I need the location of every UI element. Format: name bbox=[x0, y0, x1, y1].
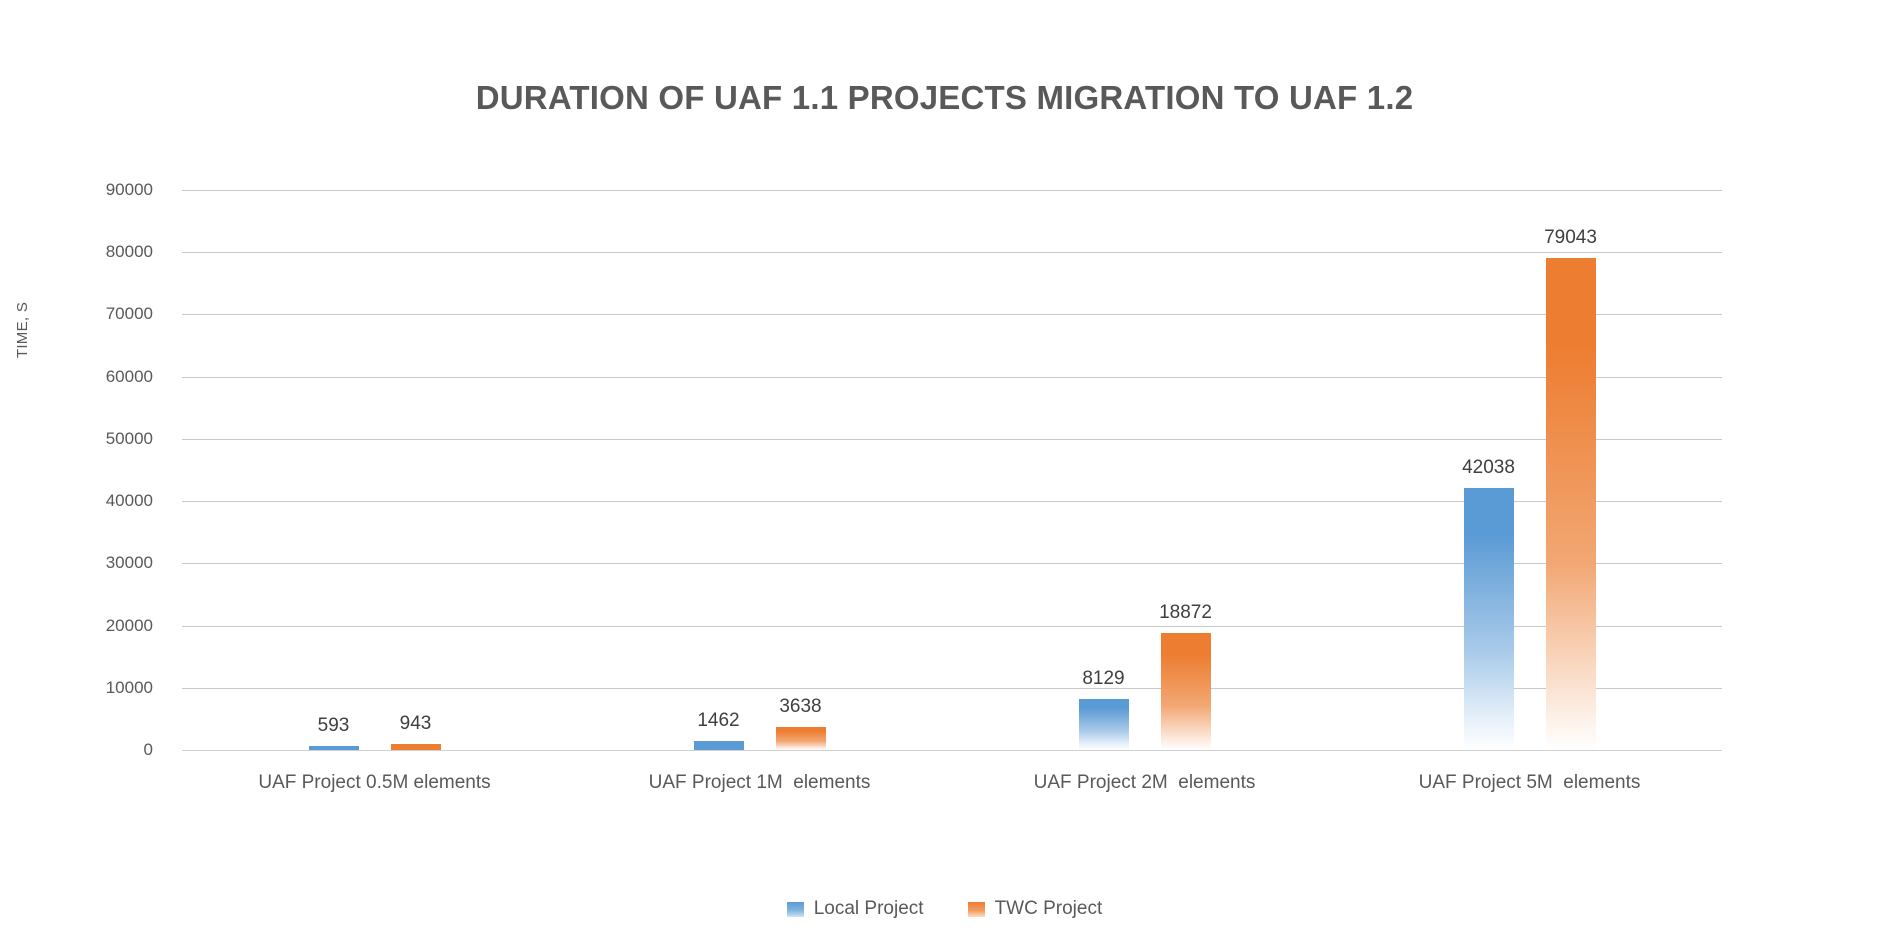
y-axis-tick-label: 50000 bbox=[47, 429, 167, 449]
bar-twc-project[interactable]: 18872 bbox=[1161, 633, 1211, 750]
bar-slot: 3638 bbox=[776, 190, 826, 750]
chart-canvas: DURATION OF UAF 1.1 PROJECTS MIGRATION T… bbox=[0, 0, 1889, 938]
y-axis-tick-label: 80000 bbox=[47, 242, 167, 262]
bar-local-project[interactable]: 593 bbox=[309, 746, 359, 750]
bar-value-label: 18872 bbox=[1159, 602, 1212, 624]
bar-group-bars: 593943 bbox=[182, 190, 567, 750]
bar-local-project[interactable]: 8129 bbox=[1079, 699, 1129, 750]
y-axis-tick-label: 70000 bbox=[47, 304, 167, 324]
bar-local-project[interactable]: 42038 bbox=[1464, 488, 1514, 750]
bar-slot: 8129 bbox=[1079, 190, 1129, 750]
gridline bbox=[182, 750, 1722, 751]
y-axis-tick-label: 20000 bbox=[47, 616, 167, 636]
bar-value-label: 8129 bbox=[1082, 668, 1124, 690]
x-axis-category-label: UAF Project 1M elements bbox=[567, 772, 952, 794]
bar-group: 4203879043 bbox=[1337, 190, 1722, 750]
x-axis-category-label: UAF Project 2M elements bbox=[952, 772, 1337, 794]
y-axis-tick-label: 90000 bbox=[47, 180, 167, 200]
bar-twc-project[interactable]: 3638 bbox=[776, 727, 826, 750]
bar-slot: 943 bbox=[391, 190, 441, 750]
bar-twc-project[interactable]: 943 bbox=[391, 744, 441, 750]
bar-group: 812918872 bbox=[952, 190, 1337, 750]
y-axis-tick-label: 30000 bbox=[47, 553, 167, 573]
bar-group-bars: 4203879043 bbox=[1337, 190, 1722, 750]
bar-slot: 79043 bbox=[1546, 190, 1596, 750]
y-axis-tick-label: 10000 bbox=[47, 678, 167, 698]
legend-item-twc-project[interactable]: TWC Project bbox=[968, 898, 1103, 920]
legend-label: Local Project bbox=[814, 898, 924, 920]
y-axis-tick-label: 60000 bbox=[47, 367, 167, 387]
bar-group: 593943 bbox=[182, 190, 567, 750]
y-axis-tick-label: 0 bbox=[47, 740, 167, 760]
bar-slot: 42038 bbox=[1464, 190, 1514, 750]
bar-twc-project[interactable]: 79043 bbox=[1546, 258, 1596, 750]
x-axis-category-label: UAF Project 0.5M elements bbox=[182, 772, 567, 794]
bar-group-bars: 14623638 bbox=[567, 190, 952, 750]
bar-slot: 593 bbox=[309, 190, 359, 750]
bar-group-bars: 812918872 bbox=[952, 190, 1337, 750]
legend-swatch-icon bbox=[787, 902, 804, 917]
bar-value-label: 943 bbox=[400, 713, 432, 735]
y-axis-tick-label: 40000 bbox=[47, 491, 167, 511]
bar-value-label: 79043 bbox=[1544, 227, 1597, 249]
legend-item-local-project[interactable]: Local Project bbox=[787, 898, 924, 920]
x-axis-category-label: UAF Project 5M elements bbox=[1337, 772, 1722, 794]
bar-slot: 18872 bbox=[1161, 190, 1211, 750]
bar-local-project[interactable]: 1462 bbox=[694, 741, 744, 750]
bar-value-label: 1462 bbox=[697, 710, 739, 732]
bar-value-label: 3638 bbox=[779, 696, 821, 718]
bar-slot: 1462 bbox=[694, 190, 744, 750]
y-axis-title: TIME, S bbox=[14, 240, 31, 420]
legend-swatch-icon bbox=[968, 902, 985, 917]
chart-legend: Local ProjectTWC Project bbox=[0, 898, 1889, 920]
bar-value-label: 593 bbox=[318, 715, 350, 737]
legend-label: TWC Project bbox=[995, 898, 1103, 920]
plot-area: 593943146236388129188724203879043 bbox=[182, 190, 1722, 750]
chart-title: DURATION OF UAF 1.1 PROJECTS MIGRATION T… bbox=[0, 78, 1889, 118]
bar-value-label: 42038 bbox=[1462, 457, 1515, 479]
bar-group: 14623638 bbox=[567, 190, 952, 750]
